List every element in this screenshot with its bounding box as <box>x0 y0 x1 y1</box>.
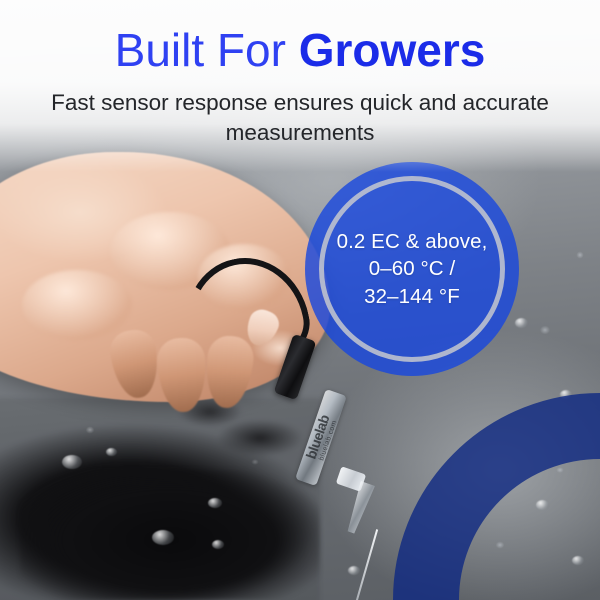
water-droplet-icon <box>212 540 224 549</box>
spec-badge-text: 0.2 EC & above, 0–60 °C / 32–144 °F <box>337 228 488 310</box>
page-title-light: Built For <box>115 24 299 76</box>
spec-badge: 0.2 EC & above, 0–60 °C / 32–144 °F <box>305 162 519 376</box>
promo-banner: bluelab bluelab.com 0.2 EC & above, 0–60… <box>0 0 600 600</box>
water-droplet-icon <box>106 448 117 456</box>
spec-line-ec: 0.2 EC & above, <box>337 228 488 255</box>
page-title-bold: Growers <box>299 24 486 76</box>
page-title: Built For Growers <box>0 27 600 73</box>
water-droplet-icon <box>152 530 174 545</box>
water-droplet-icon <box>515 318 528 328</box>
water-droplet-icon <box>208 498 222 508</box>
knuckle-highlight <box>22 270 132 340</box>
water-droplet-icon <box>62 455 82 469</box>
spec-line-fahrenheit: 32–144 °F <box>337 283 488 310</box>
water-droplet-icon <box>348 566 360 575</box>
page-subtitle: Fast sensor response ensures quick and a… <box>30 88 570 148</box>
spec-line-celsius: 0–60 °C / <box>337 255 488 282</box>
